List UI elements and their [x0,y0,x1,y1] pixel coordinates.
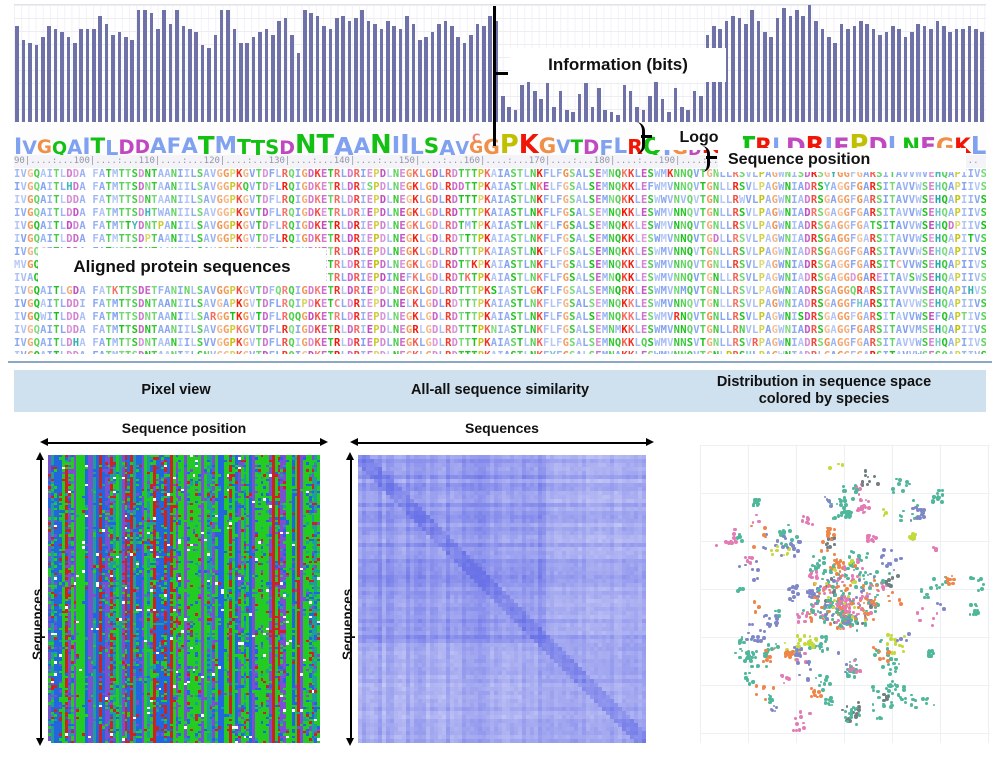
scatter-point [866,612,870,616]
scatter-point [850,602,853,605]
logo-column: V [556,122,570,155]
scatter-point [833,528,836,531]
scatter-point [894,670,897,673]
scatter-point [886,651,890,655]
pixel-view-canvas[interactable] [48,455,320,743]
scatter-point [887,689,891,693]
scatter-point [745,676,748,679]
scatter-point [738,641,741,644]
scatter-point [826,579,829,582]
logo-column: T [251,122,265,155]
logo-column: M [215,122,238,155]
scatter-point [894,658,897,661]
scatter-point [766,622,770,626]
scatter-point [829,622,832,625]
scatter-point [907,632,911,636]
scatter-point [882,703,884,705]
scatter-point [876,482,880,486]
scatter-point [861,480,864,483]
scatter-point [837,619,840,622]
scatter-point [759,629,762,632]
scatter-point [866,534,870,538]
scatter-point [795,722,799,726]
scatter-point [856,560,860,564]
scatter-point [828,698,832,702]
sequence-space-scatter[interactable] [700,445,990,743]
scatter-point [864,581,868,585]
scatter-point [899,602,903,606]
scatter-point [833,543,836,546]
information-brace [493,6,510,146]
logo-column: D [279,122,295,155]
scatter-point [872,689,875,692]
scatter-point [817,588,821,592]
similarity-x-arrow [350,438,654,447]
logo-column: D [135,122,150,155]
scatter-point [827,528,831,532]
scatter-point [815,570,819,574]
scatter-point [902,688,906,692]
scatter-point [755,560,758,563]
scatter-point [946,577,950,581]
scatter-point [755,684,758,687]
scatter-point [774,621,778,625]
scatter-point [795,648,799,652]
scatter-point [822,588,824,590]
logo-column: A [354,122,371,155]
alignment-row[interactable]: IVGQAITLHDA FATMTTSDNTAANIILSAVGGPKQVTDF… [14,181,986,194]
scatter-point [821,614,824,617]
pixel-view-x-arrow [40,438,328,447]
scatter-point [775,706,778,709]
scatter-point [855,723,858,726]
scatter-point [858,714,861,717]
scatter-point [830,538,833,541]
scatter-point [823,592,826,595]
scatter-point [774,610,777,613]
logo-column: G [539,122,557,155]
scatter-point [829,602,832,605]
scatter-point [855,596,858,599]
scatter-point [786,546,789,549]
logo-column: S [265,122,279,155]
scatter-point [802,722,805,725]
scatter-point [762,533,766,537]
scatter-point [925,593,929,597]
scatter-point [928,654,932,658]
pixel-view-y-label: Sequences [30,589,45,660]
scatter-point [947,581,950,584]
alignment-row[interactable]: IVGQAITLDHA FATMTTSDNTAANIILSVVGGPKGVTDF… [14,337,986,350]
logo-column: I [400,122,410,155]
scatter-point [850,550,853,553]
scatter-point [784,537,787,540]
alignment-row[interactable]: IVGQAITLGDA FATKTTSDETFANINLSAVGGPKGVTDF… [14,285,986,298]
scatter-point [887,595,889,597]
scatter-point [853,580,856,583]
scatter-point [833,553,836,556]
scatter-point [909,537,912,540]
scatter-point [873,579,876,582]
scatter-point [813,692,816,695]
scatter-point [792,595,796,599]
scatter-point [856,575,859,578]
scatter-point [823,682,826,685]
scatter-point [788,651,792,655]
scatter-point [833,516,837,520]
scatter-point [796,634,800,638]
logo-column: A [334,122,353,155]
logo-column: N [295,122,317,155]
scatter-point [942,607,946,611]
scatter-point [780,554,783,557]
scatter-point [812,645,815,648]
scatter-point [868,593,870,595]
logo-column: K [519,122,539,155]
scatter-point [908,483,911,486]
scatter-point [888,672,892,676]
scatter-point [797,615,801,619]
scatter-point [921,607,924,610]
scatter-point [810,617,814,621]
scatter-point [850,511,853,514]
scatter-point [752,545,756,549]
scatter-point [892,491,895,494]
scatter-point [791,600,794,603]
scatter-point [941,493,944,496]
scatter-point [751,680,755,684]
logo-column: T [237,122,251,155]
scatter-point [776,539,779,542]
scatter-point [820,635,824,639]
scatter-point [829,569,831,571]
scatter-point [747,650,750,653]
scatter-point [811,523,814,526]
scatter-point [767,643,771,647]
logo-column: V [455,122,469,155]
logo-column: F [599,122,613,155]
scatter-point [796,549,800,553]
scatter-point [782,529,785,532]
scatter-point [771,553,774,556]
scatter-point [918,516,922,520]
logo-column: L [410,122,424,155]
scatter-point [753,501,756,504]
scatter-point [811,589,815,593]
logo-column: I [392,122,400,155]
scatter-point [829,591,832,594]
scatter-point [869,573,872,576]
scatter-point [969,603,973,607]
scatter-point [826,549,829,552]
logo-column: Q [52,122,67,155]
scatter-point [770,549,773,552]
scatter-point [744,672,747,675]
alignment-row[interactable]: IVGQAITLDDA FATMTTSDHTWANIILSAVGGPKGVTDF… [14,207,986,220]
scatter-point [806,677,810,681]
scatter-point [895,478,898,481]
scatter-point [755,693,758,696]
scatter-point [825,675,829,679]
scatter-point [859,597,862,600]
scatter-point [843,602,846,605]
scatter-point [727,541,731,545]
scatter-point [797,642,800,645]
scatter-point [854,490,857,493]
scatter-point [749,561,753,565]
scatter-point [899,637,903,641]
scatter-point [815,639,818,642]
scatter-point [827,702,830,705]
scatter-point [889,562,892,565]
alignment-row[interactable]: IVGQAITLDDA FATMTTSDPTAANIILSAVGGPKGVTDF… [14,233,986,246]
scatter-point [830,577,834,581]
scatter-point [816,597,819,600]
scatter-point [771,709,774,712]
scatter-point [864,571,867,574]
scatter-point [744,564,747,567]
alignment-row[interactable]: IVGQAITLDDI FATMTTSDNTAANIILSAVGAPKGVTDF… [14,298,986,311]
scatter-point [797,653,800,656]
scatter-point [847,595,850,598]
scatter-point [858,487,862,491]
scatter-point [781,675,784,678]
scatter-point [756,577,759,580]
label-aligned-protein-sequences: Aligned protein sequences [38,248,326,286]
scatter-point [849,584,852,587]
label-sequence-position: Sequence position [718,148,966,172]
scatter-point [902,510,905,513]
scatter-point [857,606,859,608]
scatter-point [825,617,829,621]
logo-column: I [14,122,22,155]
scatter-point [854,585,858,589]
scatter-point [934,547,938,551]
logo-brace [632,122,645,154]
alignment-row[interactable]: IVGQWITLDDA FATMTTSDNTAANIILSARGGTKGVTDF… [14,311,986,324]
scatter-point [899,557,902,560]
scatter-point [837,514,841,518]
scatter-point [827,596,830,599]
scatter-point [866,483,869,486]
scatter-point [848,592,851,595]
scatter-point [862,589,865,592]
scatter-point [919,508,922,511]
scatter-point [822,618,824,620]
scatter-point [871,685,875,689]
scatter-point [734,540,738,544]
logo-column: V [22,122,37,155]
scatter-point [763,652,766,655]
similarity-y-label: Sequences [340,589,355,660]
scatter-point [825,638,828,641]
scatter-point [795,535,799,539]
scatter-point [921,511,925,515]
scatter-point [869,584,872,587]
scatter-point [755,650,758,653]
scatter-point [769,660,772,663]
scatter-point [911,533,915,537]
label-information-bits: Information (bits) [510,48,726,82]
scatter-point [875,584,878,587]
scatter-point [876,603,880,607]
scatter-point [796,661,800,665]
alignment-row[interactable]: IVGQAITLDDA FATMTTSDNTAANIILSAVGGPKGVTDF… [14,194,986,207]
scatter-point [977,589,980,592]
logo-column: A [150,122,167,155]
logo-column: L [614,122,628,155]
scatter-point [846,577,850,581]
logo-column: T [317,122,335,155]
logo-column: T [91,122,106,155]
scatter-point [873,603,877,607]
scatter-point [816,696,819,699]
scatter-point [838,565,841,568]
scatter-point [889,637,893,641]
scatter-point [764,547,767,550]
scatter-point [822,572,825,575]
logo-column: S [424,122,439,155]
panel-header-similarity: All-all sequence similarity [338,370,662,412]
scatter-point [920,588,923,591]
scatter-point [843,584,846,587]
scatter-point [840,511,844,515]
scatter-point [823,607,826,610]
scatter-point [867,574,870,577]
logo-column: T [198,122,215,155]
logo-column: A [67,122,82,155]
scatter-point [826,647,830,651]
scatter-point [762,636,766,640]
scatter-point [768,701,772,705]
information-bar [979,5,985,123]
scatter-point [853,606,856,609]
scatter-point [801,519,805,523]
scatter-point [821,540,825,544]
scatter-point [744,660,747,663]
scatter-point [738,533,742,537]
scatter-point [776,545,779,548]
scatter-point [822,561,826,565]
alignment-row[interactable]: IVGQAITLDDA FATMTTSDNTAANIILSNVGGPKGVTDF… [14,350,986,354]
scatter-point [751,568,754,571]
scatter-point [798,674,801,677]
pixel-view-x-label: Sequence position [48,420,320,436]
logo-column: L [971,122,986,155]
panel-header-pixel-view: Pixel view [14,370,338,412]
scatter-point [863,612,866,615]
scatter-point [802,609,805,612]
scatter-point [831,618,834,621]
scatter-point [869,611,873,615]
scatter-point [850,713,854,717]
scatter-point [809,668,812,671]
scatter-point [754,610,758,614]
scatter-point [886,642,889,645]
scatter-point [851,574,855,578]
scatter-point [812,609,815,612]
scatter-point [806,517,810,521]
scatter-point [891,692,894,695]
scatter-point [807,642,811,646]
scatter-point [859,498,863,502]
logo-column: I [82,122,90,155]
scatter-point [791,544,795,548]
scatter-point [814,582,817,585]
scatter-point [756,568,760,572]
scatter-point [787,677,791,681]
scatter-point [882,699,885,702]
alignment-row[interactable]: IVGQAITLDDA FATMTTSDNTAANIILSAVGGPKGVTDF… [14,324,986,337]
scatter-point [846,567,849,570]
scatter-point [912,499,915,502]
scatter-point [903,635,906,638]
scatter-point [791,585,795,589]
scatter-point [750,638,753,641]
logo-column: N [370,122,392,155]
similarity-x-label: Sequences [358,420,646,436]
logo-column: G [37,122,52,155]
scatter-point [910,703,913,706]
scatter-point [910,694,912,696]
scatter-point [862,511,865,514]
scatter-point [972,613,975,616]
scatter-point [798,728,802,732]
scatter-point [754,656,757,659]
scatter-point [873,475,876,478]
scatter-point [851,497,855,501]
logo-column: L [105,122,118,155]
scatter-point [752,504,755,507]
scatter-point [841,581,843,583]
scatter-point [803,620,807,624]
scatter-point [732,532,736,536]
scatter-point [809,712,812,715]
scatter-point [752,521,755,524]
scatter-point [894,558,898,562]
scatter-point [878,657,882,661]
scatter-point [795,584,799,588]
alignment-row[interactable]: IVGQAITLDDA FATMTTYDNTPANIILSAVGGPKGVTDF… [14,220,986,233]
scatter-point [891,591,894,594]
scatter-point [860,608,863,611]
scatter-point [748,672,751,675]
scatter-point [855,670,858,673]
panel-header-distribution: Distribution in sequence spacecolored by… [662,370,986,412]
logo-column: T [570,122,583,155]
scatter-point [842,485,845,488]
scatter-point [898,478,902,482]
logo-column: A [181,122,198,155]
scatter-point [862,584,865,587]
scatter-point [835,603,837,605]
scatter-point [795,729,798,732]
scatter-point [868,586,871,589]
scatter-point [794,717,797,720]
logo-column: F [167,122,182,155]
scatter-point [745,638,748,641]
similarity-matrix-canvas[interactable] [358,455,646,743]
logo-column: CG [469,122,483,155]
scatter-point [885,582,888,585]
scatter-point [797,620,801,624]
scatter-point [870,538,874,542]
scatter-point [858,493,861,496]
scatter-point [772,686,775,689]
scatter-point [881,579,885,583]
scatter-point [819,694,823,698]
scatter-point [899,519,903,523]
